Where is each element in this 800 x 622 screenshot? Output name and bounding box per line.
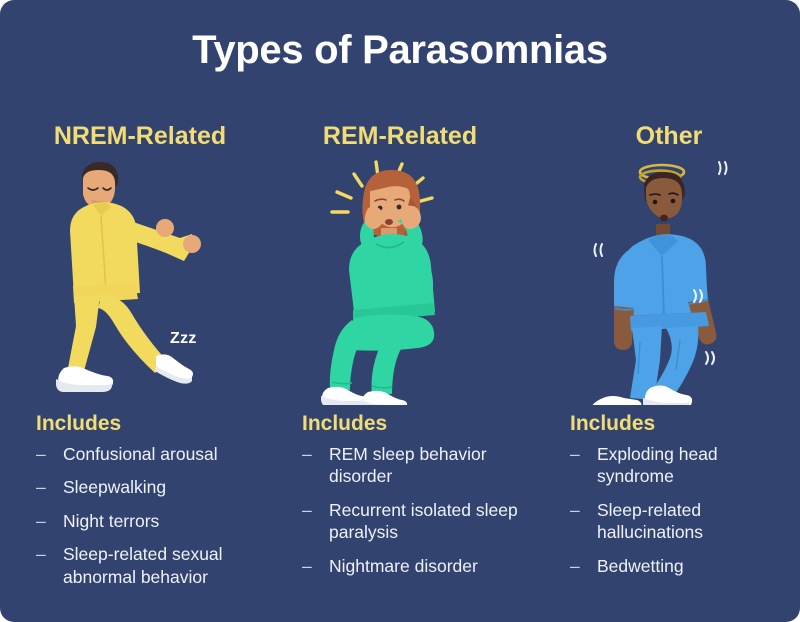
includes-block-nrem: Includes – Confusional arousal – Sleepwa…: [36, 412, 286, 599]
bullet-dash-icon: –: [36, 510, 63, 532]
bullet-dash-icon: –: [302, 499, 329, 521]
list-item: – Sleepwalking: [36, 476, 286, 498]
bullet-dash-icon: –: [570, 443, 597, 465]
column-heading-rem: REM-Related: [265, 122, 535, 151]
infographic-poster: Types of Parasomnias NREM-Related REM-Re…: [0, 0, 800, 622]
includes-label-other: Includes: [570, 412, 798, 435]
list-item-label: Sleep-related hallucinations: [597, 499, 798, 544]
list-item-label: Exploding head syndrome: [597, 443, 798, 488]
bullet-dash-icon: –: [36, 476, 63, 498]
includes-list-rem: – REM sleep behavior disorder – Recurren…: [302, 443, 550, 577]
distressed-person-illustration: [318, 160, 498, 405]
list-item: – Night terrors: [36, 510, 286, 532]
zzz-caption: Zzz: [170, 330, 197, 348]
sleepwalking-person-svg: [52, 160, 252, 405]
list-item-label: Nightmare disorder: [329, 555, 550, 577]
dizzy-person-illustration: [588, 160, 768, 405]
bullet-dash-icon: –: [302, 443, 329, 465]
list-item-label: Confusional arousal: [63, 443, 286, 465]
bullet-dash-icon: –: [570, 499, 597, 521]
list-item: – Sleep-related hallucinations: [570, 499, 798, 544]
list-item-label: Bedwetting: [597, 555, 798, 577]
bullet-dash-icon: –: [36, 543, 63, 565]
includes-label-rem: Includes: [302, 412, 550, 435]
includes-list-other: – Exploding head syndrome – Sleep-relate…: [570, 443, 798, 577]
list-item-label: Recurrent isolated sleep paralysis: [329, 499, 550, 544]
bullet-dash-icon: –: [570, 555, 597, 577]
includes-list-nrem: – Confusional arousal – Sleepwalking – N…: [36, 443, 286, 588]
page-title: Types of Parasomnias: [0, 28, 800, 73]
dizzy-person-svg: [588, 160, 768, 405]
list-item-label: REM sleep behavior disorder: [329, 443, 550, 488]
list-item: – REM sleep behavior disorder: [302, 443, 550, 488]
includes-label-nrem: Includes: [36, 412, 286, 435]
column-heading-other: Other: [540, 122, 798, 151]
column-heading-nrem: NREM-Related: [0, 122, 280, 151]
distressed-person-svg: [318, 160, 498, 405]
list-item-label: Night terrors: [63, 510, 286, 532]
list-item: – Confusional arousal: [36, 443, 286, 465]
bullet-dash-icon: –: [36, 443, 63, 465]
list-item-label: Sleepwalking: [63, 476, 286, 498]
list-item: – Bedwetting: [570, 555, 798, 577]
sleepwalking-person-illustration: Zzz: [52, 160, 252, 405]
list-item-label: Sleep-related sexual abnormal behavior: [63, 543, 286, 588]
list-item: – Exploding head syndrome: [570, 443, 798, 488]
bullet-dash-icon: –: [302, 555, 329, 577]
list-item: – Nightmare disorder: [302, 555, 550, 577]
includes-block-other: Includes – Exploding head syndrome – Sle…: [570, 412, 798, 588]
list-item: – Recurrent isolated sleep paralysis: [302, 499, 550, 544]
includes-block-rem: Includes – REM sleep behavior disorder –…: [302, 412, 550, 588]
list-item: – Sleep-related sexual abnormal behavior: [36, 543, 286, 588]
